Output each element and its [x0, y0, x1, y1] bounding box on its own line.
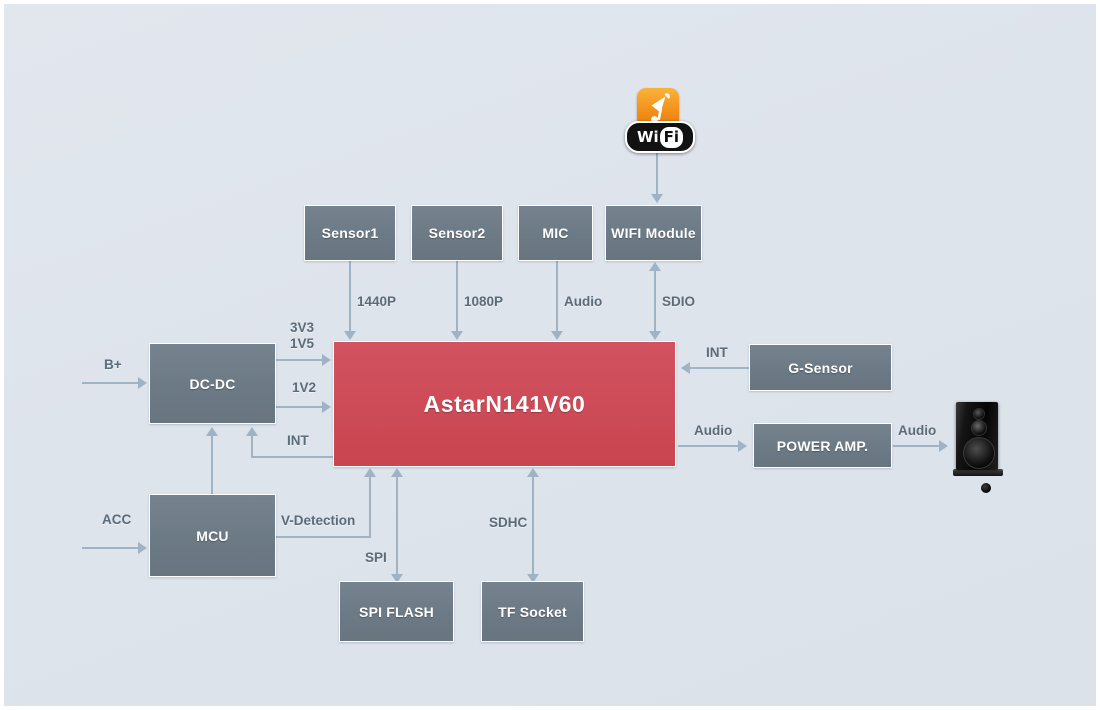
label-audio-pa: Audio	[694, 423, 732, 438]
block-g-sensor[interactable]: G-Sensor	[749, 344, 892, 391]
block-dc-dc[interactable]: DC-DC	[149, 343, 276, 424]
wifi-logo: WiFi	[634, 88, 682, 150]
loudspeaker-icon	[953, 402, 1003, 478]
label-audio-speaker: Audio	[898, 423, 936, 438]
connector-acc-arrow	[138, 542, 147, 554]
connector-sdio-line	[654, 270, 656, 332]
connector-audio-pa-arrow	[738, 440, 747, 452]
label-1080p: 1080P	[464, 294, 503, 309]
connector-audio-in-arrow	[551, 331, 563, 340]
connector-vdetection-arrow	[364, 468, 376, 477]
wifi-text-wi: Wi	[637, 128, 659, 146]
speaker-cabinet	[956, 402, 998, 470]
connector-antenna-arrow	[651, 194, 663, 203]
block-soc-label: AstarN141V60	[424, 391, 586, 418]
block-dc-dc-label: DC-DC	[189, 376, 235, 392]
label-int-dcdc: INT	[287, 433, 309, 448]
connector-int-dcdc-arrow	[246, 427, 258, 436]
connector-sdhc-line	[532, 476, 534, 577]
wifi-wordmark: WiFi	[625, 121, 695, 153]
block-g-sensor-label: G-Sensor	[788, 360, 853, 376]
diagram-canvas: WiFi Sensor1 Sensor2 MIC WIFI Module Ast…	[0, 0, 1100, 710]
wifi-text-fi: Fi	[660, 127, 683, 148]
label-int-gsensor: INT	[706, 345, 728, 360]
connector-sdio-arrow-down	[649, 331, 661, 340]
block-spi-flash-label: SPI FLASH	[359, 604, 434, 620]
connector-audio-pa-line	[678, 445, 740, 447]
connector-int-gsensor-line	[690, 367, 750, 369]
label-sdio: SDIO	[662, 294, 695, 309]
connector-1440p-line	[349, 261, 351, 332]
block-tf-socket[interactable]: TF Socket	[481, 581, 584, 642]
connector-acc-line	[82, 547, 142, 549]
connector-vdetection-vline	[369, 476, 371, 538]
block-wifi-module-label: WIFI Module	[611, 225, 696, 241]
speaker-tweeter	[973, 408, 985, 420]
label-bplus: B+	[104, 357, 122, 372]
connector-bplus-line	[82, 382, 142, 384]
connector-mcu-dcdc-arrow	[206, 427, 218, 436]
block-mic[interactable]: MIC	[518, 205, 593, 261]
block-power-amp[interactable]: POWER AMP.	[753, 423, 892, 468]
connector-vdetection-hline	[276, 536, 371, 538]
block-tf-socket-label: TF Socket	[498, 604, 567, 620]
connector-int-dcdc-vline	[251, 436, 253, 458]
connector-int-dcdc-hline	[251, 456, 333, 458]
connector-3v3-1v5-arrow	[322, 354, 331, 366]
label-1v5: 1V5	[290, 336, 314, 351]
block-spi-flash[interactable]: SPI FLASH	[339, 581, 454, 642]
label-spi: SPI	[365, 550, 387, 565]
block-mcu-label: MCU	[196, 528, 228, 544]
block-wifi-module[interactable]: WIFI Module	[605, 205, 702, 261]
speaker-base	[953, 469, 1003, 476]
block-sensor2-label: Sensor2	[429, 225, 486, 241]
label-1440p: 1440P	[357, 294, 396, 309]
label-3v3: 3V3	[290, 320, 314, 335]
connector-1440p-arrow	[344, 331, 356, 340]
block-power-amp-label: POWER AMP.	[777, 438, 868, 454]
connector-int-gsensor-arrow	[681, 362, 690, 374]
block-sensor2[interactable]: Sensor2	[411, 205, 503, 261]
block-sensor1[interactable]: Sensor1	[304, 205, 396, 261]
speaker-midrange	[971, 420, 987, 436]
connector-3v3-1v5-line	[276, 359, 324, 361]
connector-sdio-arrow-up	[649, 262, 661, 271]
connector-1080p-line	[456, 261, 458, 332]
diagram-stage: WiFi Sensor1 Sensor2 MIC WIFI Module Ast…	[4, 4, 1096, 706]
block-sensor1-label: Sensor1	[322, 225, 379, 241]
speaker-woofer	[963, 437, 995, 469]
connector-1080p-arrow	[451, 331, 463, 340]
label-v-detection: V-Detection	[281, 513, 355, 528]
connector-spi-line	[396, 476, 398, 577]
label-1v2: 1V2	[292, 380, 316, 395]
connector-mcu-dcdc-line	[211, 436, 213, 494]
connector-bplus-arrow	[138, 377, 147, 389]
connector-1v2-arrow	[322, 401, 331, 413]
block-mcu[interactable]: MCU	[149, 494, 276, 577]
block-soc-astarn141v60[interactable]: AstarN141V60	[333, 341, 676, 467]
connector-audio-in-line	[556, 261, 558, 332]
connector-1v2-line	[276, 406, 324, 408]
label-audio-in: Audio	[564, 294, 602, 309]
label-acc: ACC	[102, 512, 131, 527]
connector-audio-speaker-line	[893, 445, 941, 447]
connector-sdhc-arrow-up	[527, 468, 539, 477]
speaker-dustcap	[981, 483, 991, 493]
block-mic-label: MIC	[542, 225, 568, 241]
connector-audio-speaker-arrow	[939, 440, 948, 452]
connector-antenna-line	[656, 150, 658, 196]
connector-spi-arrow-up	[391, 468, 403, 477]
label-sdhc: SDHC	[489, 515, 527, 530]
